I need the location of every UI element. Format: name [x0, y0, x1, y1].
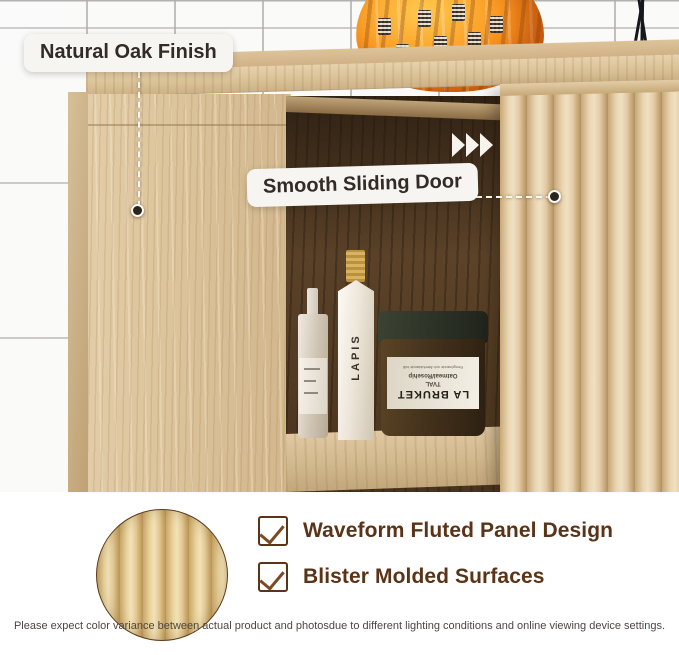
cabinet: LAPIS LA BRUKET TVAL Oatmeal/Rosehip Ren… [86, 56, 679, 492]
callout-leader-line-door [466, 196, 552, 198]
feature-label: Waveform Fluted Panel Design [303, 519, 613, 543]
chevron-right-icon [452, 133, 465, 157]
color-variance-disclaimer: Please expect color variance between act… [0, 618, 679, 635]
cream-jar-brand-text: LA BRUKET [397, 389, 469, 401]
spray-bottle-label [299, 358, 327, 414]
feature-list: Waveform Fluted Panel Design Blister Mol… [258, 516, 613, 608]
feature-summary-panel: Waveform Fluted Panel Design Blister Mol… [0, 492, 679, 655]
check-box-icon [258, 516, 288, 546]
check-box-icon [258, 562, 288, 592]
cream-jar-label: LA BRUKET TVAL Oatmeal/Rosehip Rengörand… [387, 357, 479, 409]
spray-bottle-cap [307, 288, 318, 316]
oil-bottle-cap [346, 250, 365, 282]
callout-natural-oak-finish: Natural Oak Finish [24, 34, 233, 72]
cream-jar-product-text: TVAL [425, 381, 440, 387]
product-cream-jar: LA BRUKET TVAL Oatmeal/Rosehip Rengörand… [378, 311, 488, 436]
callout-anchor-dot-door [548, 190, 561, 203]
cabinet-right-stile [68, 92, 88, 492]
product-photo: PUR [0, 0, 679, 492]
feature-item: Blister Molded Surfaces [258, 562, 613, 592]
product-feature-image: PUR [0, 0, 679, 655]
chevron-right-icon [480, 133, 493, 157]
sliding-fluted-door[interactable] [500, 92, 679, 492]
oil-bottle-name-text: LAPIS [350, 333, 362, 380]
feature-item: Waveform Fluted Panel Design [258, 516, 613, 546]
cabinet-panel-seam [86, 124, 291, 126]
cream-jar-variant-text: Oatmeal/Rosehip [409, 373, 458, 379]
product-spray-bottle [298, 314, 328, 438]
callout-leader-line-oak [138, 72, 140, 207]
slide-direction-arrows [452, 133, 493, 157]
callout-anchor-dot-oak [131, 204, 144, 217]
product-facial-oil-bottle: LAPIS [338, 280, 374, 440]
cabinet-left-side-panel [86, 94, 291, 492]
chevron-right-icon [466, 133, 479, 157]
cream-jar-description-text: Rengörande och återfuktande tvål [403, 366, 463, 371]
feature-label: Blister Molded Surfaces [303, 565, 545, 589]
callout-smooth-sliding-door: Smooth Sliding Door [247, 163, 479, 207]
